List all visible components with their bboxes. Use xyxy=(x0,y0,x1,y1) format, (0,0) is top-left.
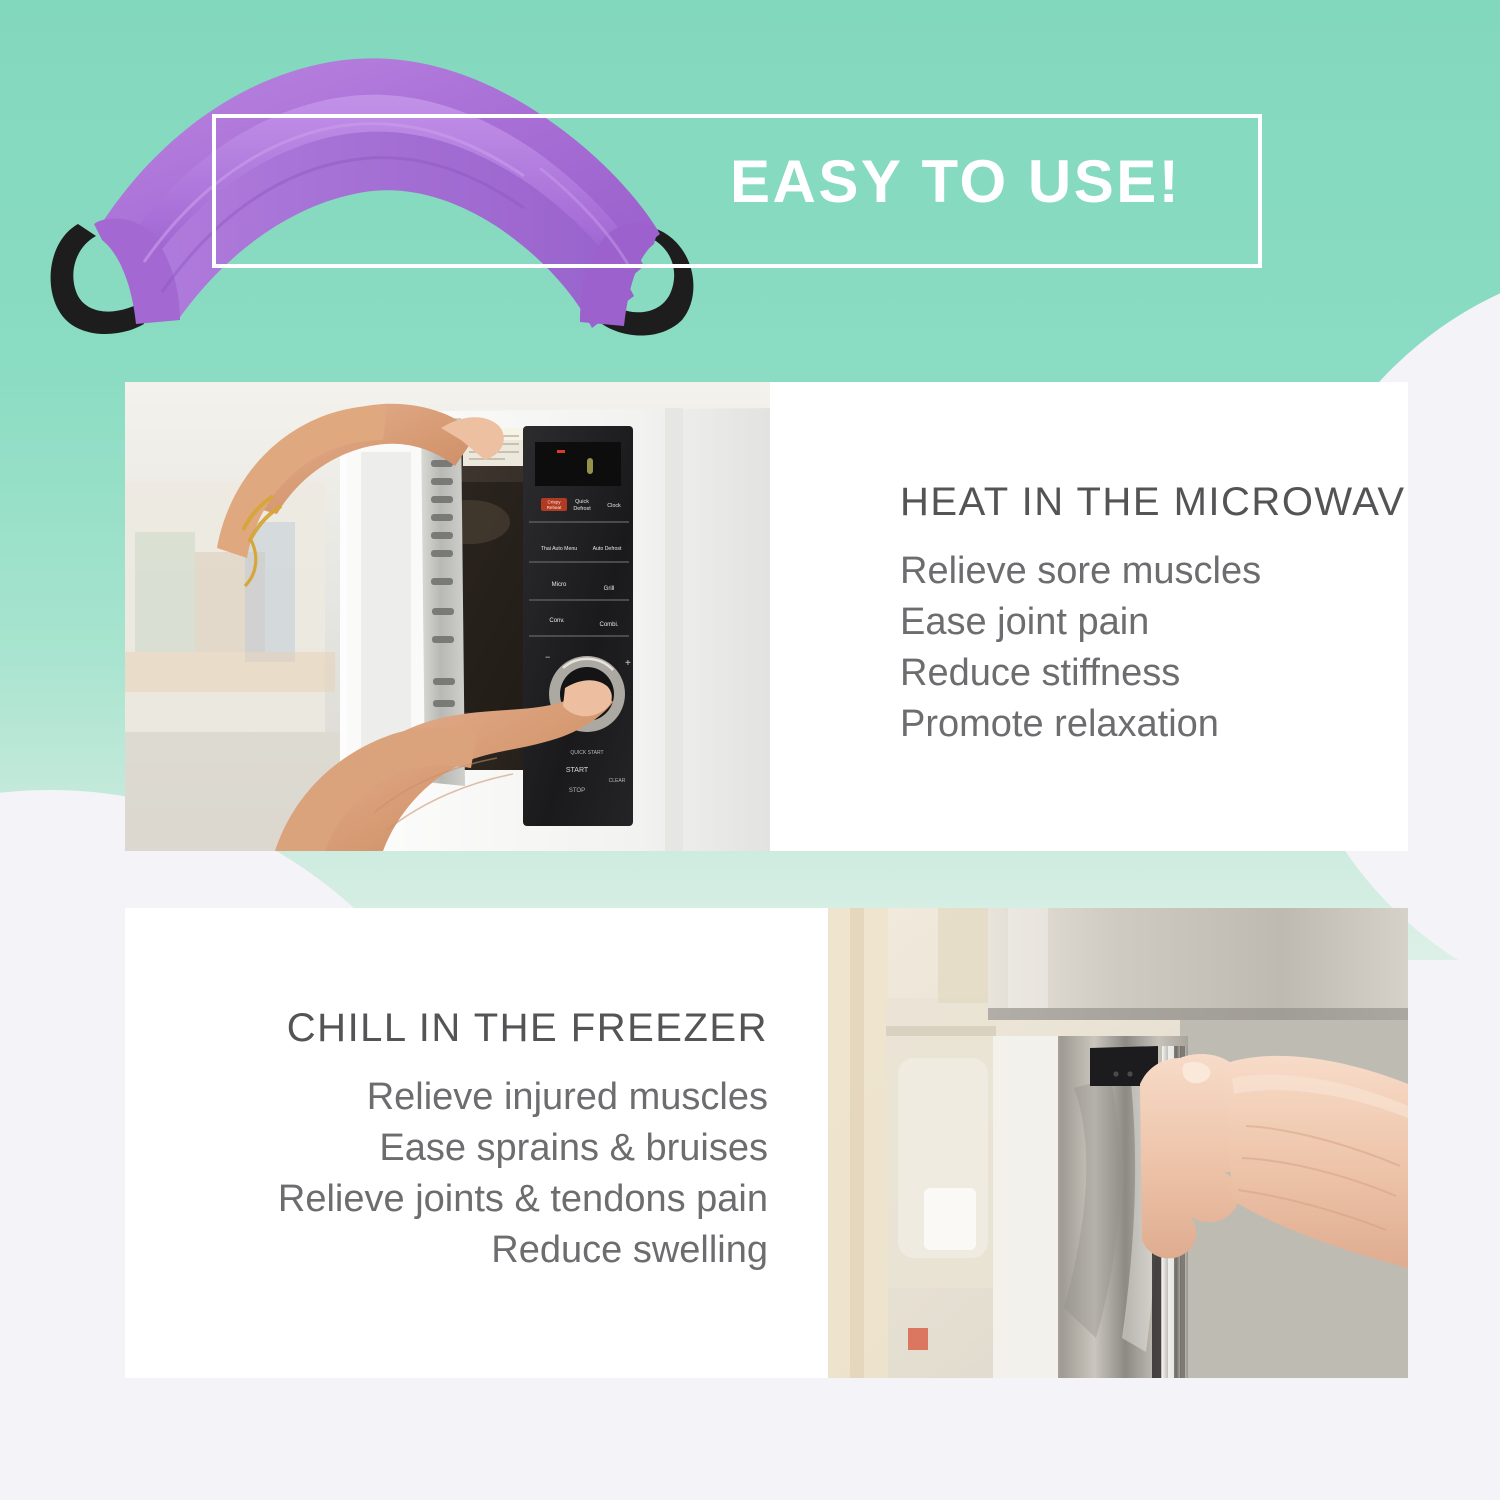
svg-text:Clock: Clock xyxy=(607,503,621,509)
list-item: Promote relaxation xyxy=(900,699,1261,750)
microwave-benefit-list: Relieve sore muscles Ease joint pain Red… xyxy=(900,546,1261,750)
microwave-text-block: HEAT IN THE MICROWAVE Relieve sore muscl… xyxy=(770,382,1408,851)
list-item: Ease joint pain xyxy=(900,597,1261,648)
svg-text:Crispy: Crispy xyxy=(547,500,561,505)
svg-text:STOP: STOP xyxy=(569,788,585,794)
svg-text:Combi.: Combi. xyxy=(599,622,618,628)
card-chill-freezer: CHILL IN THE FREEZER Relieve injured mus… xyxy=(125,908,1408,1378)
freezer-photo xyxy=(828,908,1408,1378)
svg-text:Defrost: Defrost xyxy=(573,506,591,512)
freezer-benefit-list: Relieve injured muscles Ease sprains & b… xyxy=(278,1072,768,1276)
infographic-canvas: EASY TO USE! xyxy=(0,0,1500,1500)
svg-text:Conv.: Conv. xyxy=(549,618,565,624)
page-title: EASY TO USE! xyxy=(730,152,1250,212)
list-item: Relieve sore muscles xyxy=(900,546,1261,597)
svg-text:Reheat: Reheat xyxy=(547,505,563,510)
svg-text:Quick: Quick xyxy=(575,499,589,505)
svg-text:+: + xyxy=(625,658,631,669)
freezer-text-block: CHILL IN THE FREEZER Relieve injured mus… xyxy=(125,908,828,1378)
svg-text:QUICK START: QUICK START xyxy=(570,750,603,756)
svg-text:Micro: Micro xyxy=(552,582,567,588)
list-item: Reduce swelling xyxy=(278,1225,768,1276)
list-item: Ease sprains & bruises xyxy=(278,1123,768,1174)
svg-text:CLEAR: CLEAR xyxy=(609,778,626,784)
svg-text:−: − xyxy=(545,652,550,662)
svg-text:Grill: Grill xyxy=(604,586,615,592)
card-heat-microwave: Crispy Reheat Quick Defrost Clock Thai A… xyxy=(125,382,1408,851)
microwave-heading: HEAT IN THE MICROWAVE xyxy=(900,482,1408,522)
list-item: Reduce stiffness xyxy=(900,648,1261,699)
svg-text:Auto Defrost: Auto Defrost xyxy=(593,546,622,552)
list-item: Relieve joints & tendons pain xyxy=(278,1174,768,1225)
svg-text:START: START xyxy=(566,767,589,774)
list-item: Relieve injured muscles xyxy=(278,1072,768,1123)
microwave-photo: Crispy Reheat Quick Defrost Clock Thai A… xyxy=(125,382,770,851)
svg-text:Thai Auto Menu: Thai Auto Menu xyxy=(541,546,577,552)
freezer-heading: CHILL IN THE FREEZER xyxy=(287,1008,768,1048)
